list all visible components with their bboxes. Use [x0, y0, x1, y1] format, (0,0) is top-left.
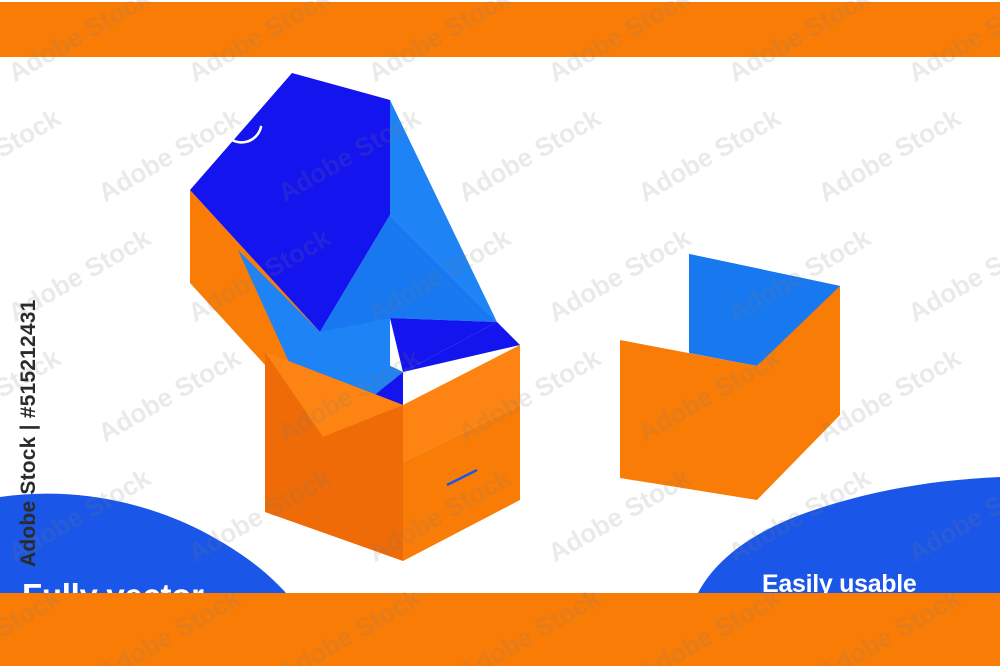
right-box-model [620, 254, 840, 500]
tray-front-face [620, 340, 757, 500]
left-box-model [190, 73, 520, 561]
bottom-orange-band [0, 593, 1000, 666]
top-orange-band [0, 2, 1000, 57]
artboard-canvas: Fully vector & editable Easily usable fo… [0, 0, 1000, 666]
watermark-stock-id: Adobe Stock | #515212431 [17, 317, 41, 567]
